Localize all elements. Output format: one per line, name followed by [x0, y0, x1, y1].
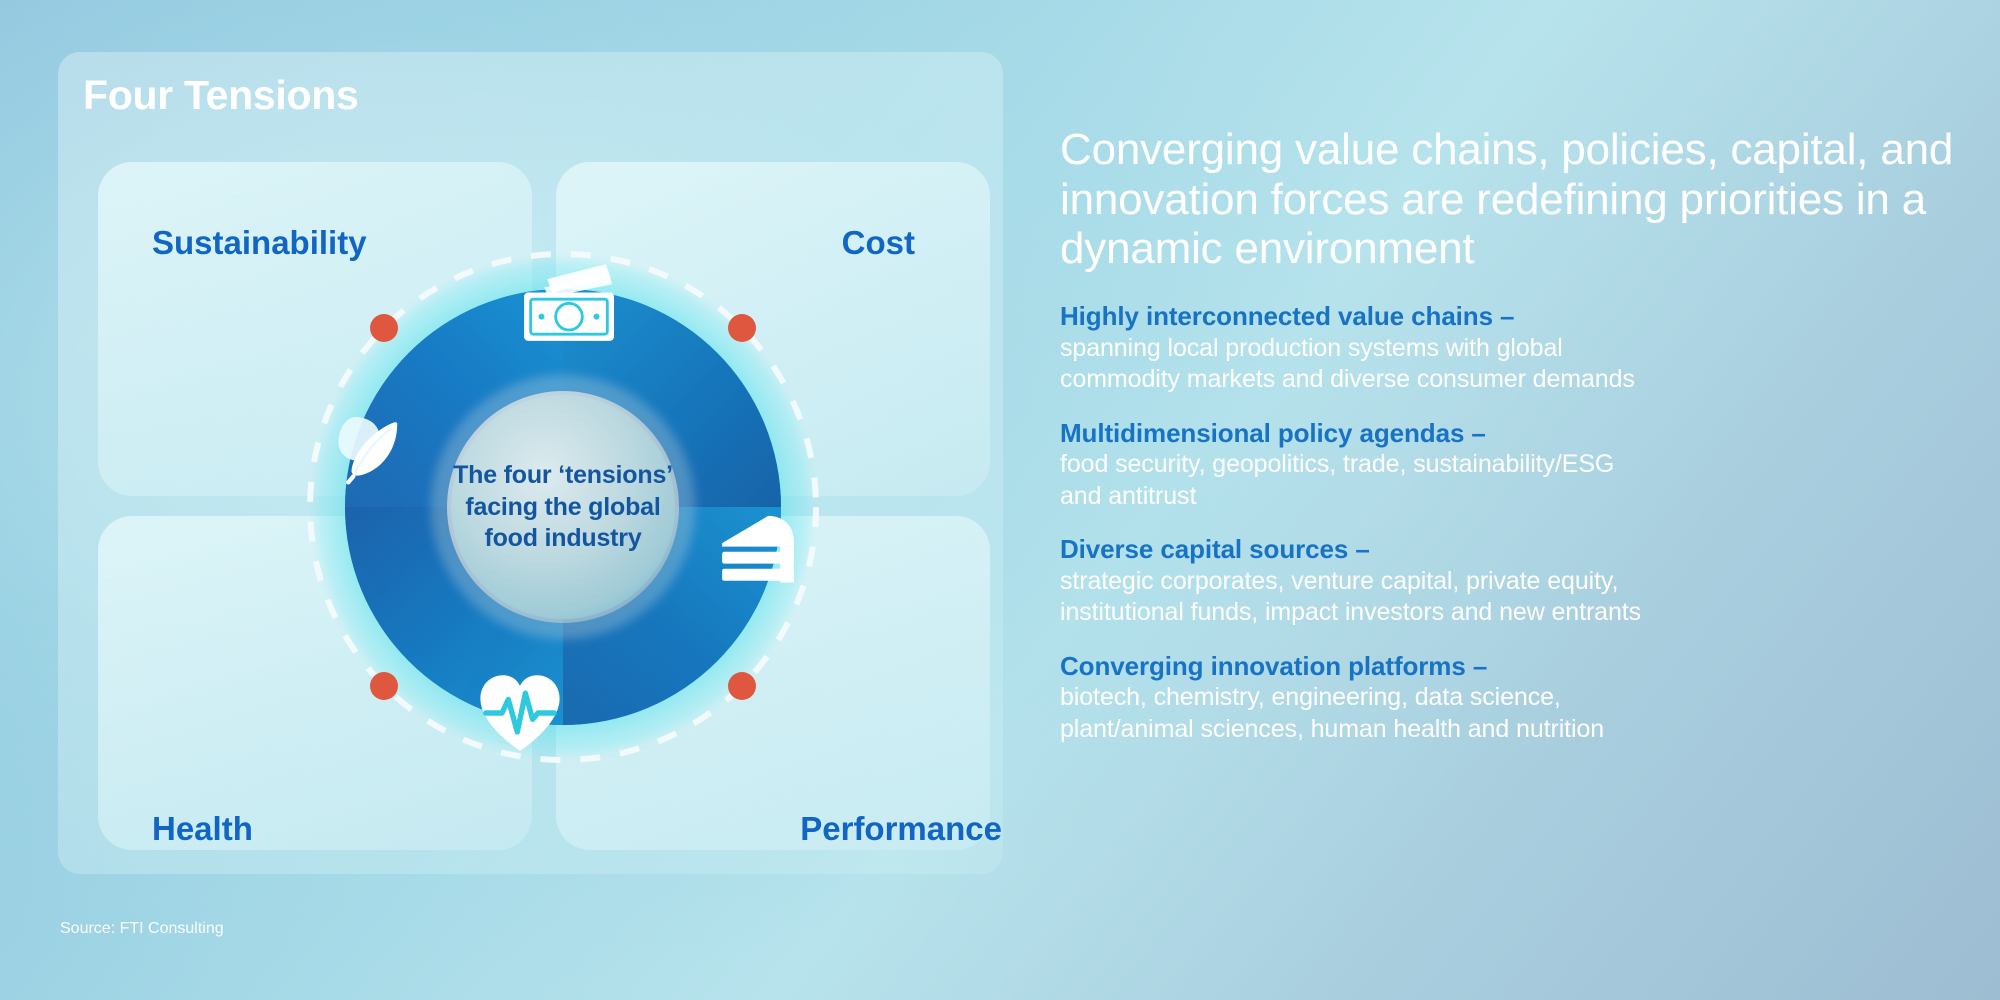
point-title: Converging innovation platforms – — [1060, 650, 1960, 683]
point-item: Multidimensional policy agendas – food s… — [1060, 417, 1960, 513]
point-body: food security, geopolitics, trade, susta… — [1060, 449, 1960, 512]
four-tensions-panel: Four Tensions Sustainability Cost Health… — [58, 52, 1003, 874]
marker-dot-top-right — [728, 314, 756, 342]
headline: Converging value chains, policies, capit… — [1060, 125, 1960, 274]
marker-dot-bottom-right — [728, 672, 756, 700]
marker-dot-top-left — [370, 314, 398, 342]
point-body: spanning local production systems with g… — [1060, 333, 1960, 396]
point-body: biotech, chemistry, engineering, data sc… — [1060, 682, 1960, 745]
quadrant-label-cost: Cost — [842, 224, 915, 262]
point-item: Converging innovation platforms – biotec… — [1060, 650, 1960, 746]
point-title: Diverse capital sources – — [1060, 533, 1960, 566]
marker-dot-bottom-left — [370, 672, 398, 700]
point-body: strategic corporates, venture capital, p… — [1060, 566, 1960, 629]
wheel-hub — [447, 391, 679, 623]
heart-pulse-icon — [475, 669, 565, 757]
source-note: Source: FTI Consulting — [60, 920, 224, 938]
point-title: Multidimensional policy agendas – — [1060, 417, 1960, 450]
quadrant-label-performance: Performance — [800, 810, 1002, 848]
leaf-icon — [325, 405, 411, 491]
right-content-column: Converging value chains, policies, capit… — [1060, 125, 1960, 766]
point-item: Diverse capital sources – strategic corp… — [1060, 533, 1960, 629]
four-tensions-wheel: The four ‘tensions’ facing the global fo… — [283, 227, 843, 787]
panel-title: Four Tensions — [83, 72, 359, 119]
point-title: Highly interconnected value chains – — [1060, 300, 1960, 333]
cake-slice-icon — [715, 509, 801, 591]
quadrant-label-health: Health — [152, 810, 253, 848]
point-item: Highly interconnected value chains – spa… — [1060, 300, 1960, 396]
banknotes-icon — [519, 259, 619, 351]
